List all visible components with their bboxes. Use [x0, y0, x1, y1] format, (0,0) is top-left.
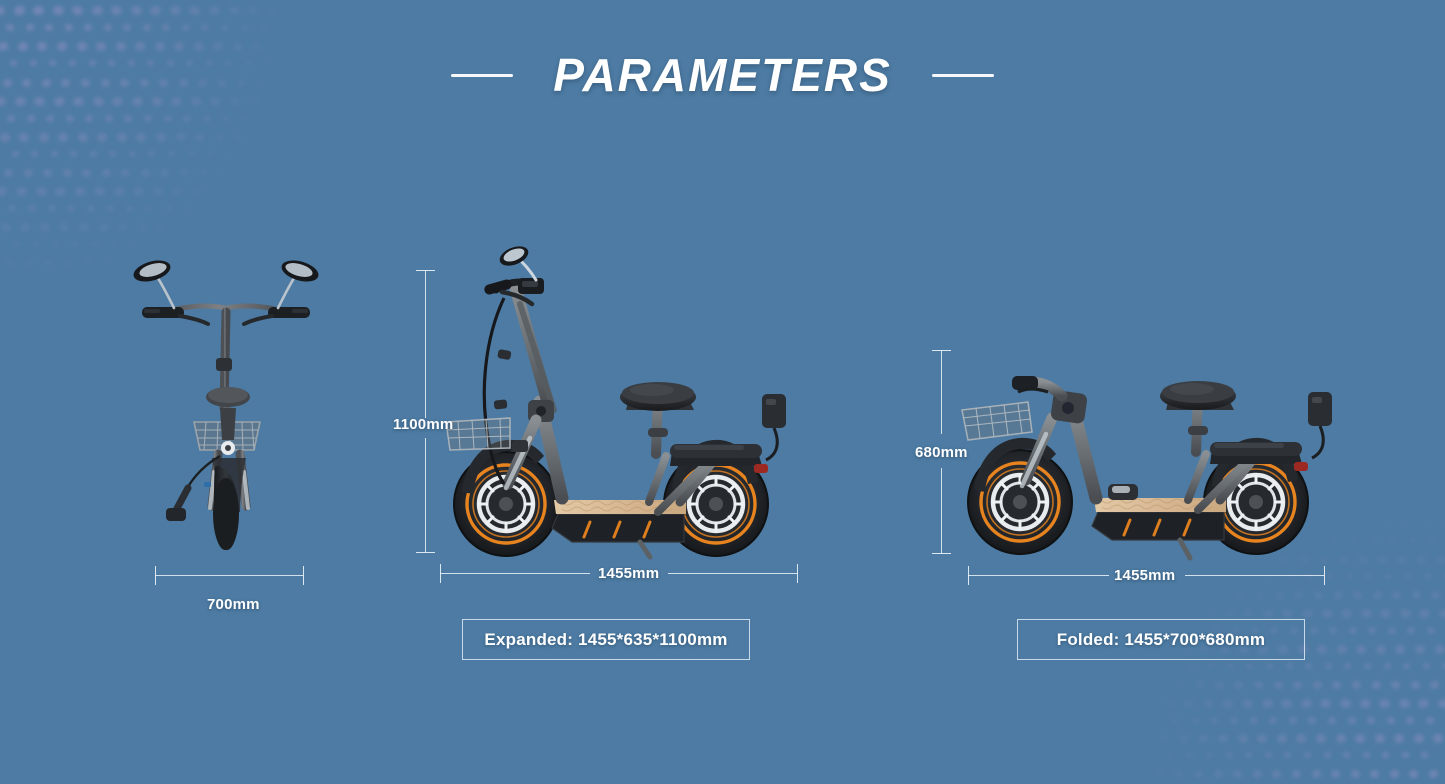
folded-caption-box: Folded: 1455*700*680mm — [1017, 619, 1305, 660]
title-rule-left-icon — [451, 74, 513, 77]
dim-line-upper — [941, 350, 942, 434]
folded-height-label: 680mm — [915, 444, 968, 461]
front-basket — [446, 418, 510, 450]
dim-line-left — [440, 573, 590, 574]
mirror-left — [131, 257, 173, 286]
dim-line-left — [968, 575, 1109, 576]
dim-line-lower — [425, 438, 426, 553]
expanded-scooter — [444, 252, 794, 557]
dim-line — [155, 575, 303, 576]
charger-box — [762, 394, 786, 460]
dim-line-upper — [425, 270, 426, 418]
page-title-group: PARAMETERS — [0, 52, 1445, 98]
dim-line-right — [1185, 575, 1324, 576]
page-title: PARAMETERS — [553, 52, 892, 98]
dim-tick-right — [797, 564, 798, 583]
dim-tick-right — [303, 566, 304, 585]
expanded-height-label: 1100mm — [393, 416, 453, 433]
dim-tick-right — [1324, 566, 1325, 585]
parameters-page: PARAMETERS — [0, 0, 1445, 784]
front-basket — [962, 402, 1032, 440]
folded-scooter — [956, 352, 1336, 562]
folded-caption-text: Folded: 1455*700*680mm — [1057, 630, 1266, 650]
dim-line-right — [668, 573, 797, 574]
dim-line-lower — [941, 468, 942, 554]
expanded-caption-box: Expanded: 1455*635*1100mm — [462, 619, 750, 660]
title-rule-right-icon — [932, 74, 994, 77]
front-view-scooter — [128, 258, 324, 550]
folded-length-label: 1455mm — [1114, 567, 1175, 584]
expanded-length-label: 1455mm — [598, 565, 659, 582]
charger-box — [1308, 392, 1332, 458]
front-width-label: 700mm — [207, 596, 260, 613]
mirror-right — [279, 257, 321, 286]
expanded-caption-text: Expanded: 1455*635*1100mm — [484, 630, 727, 650]
